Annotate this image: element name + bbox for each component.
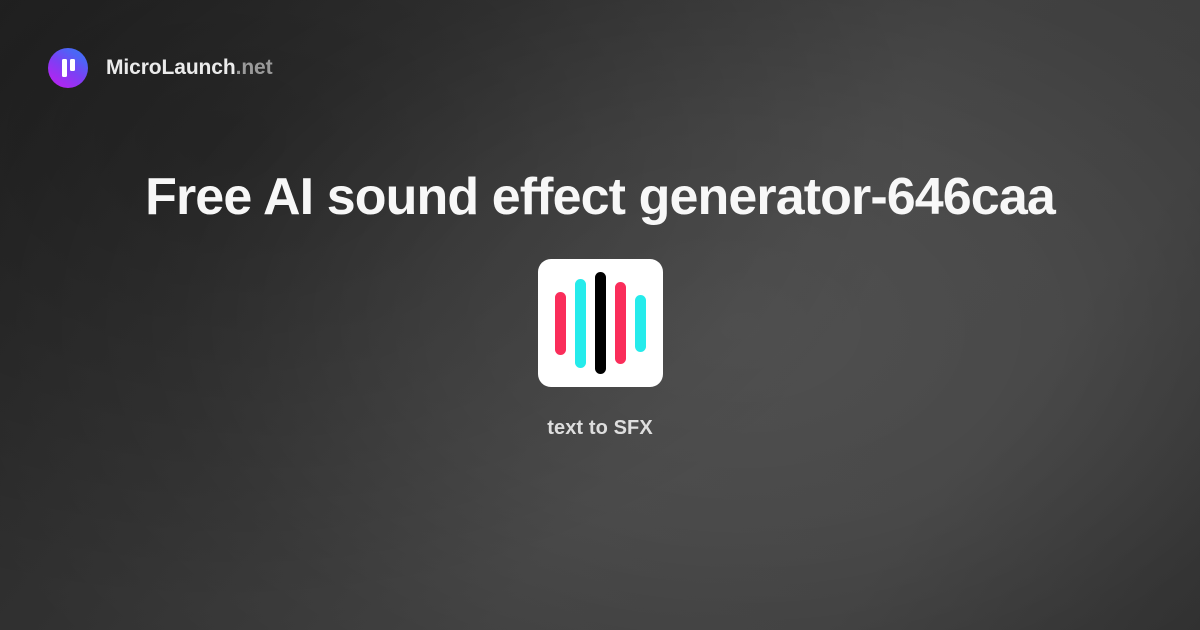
logo-bar-right [70, 59, 75, 71]
product-tagline: text to SFX [547, 417, 653, 440]
hero-content: Free AI sound effect generator-646caa te… [0, 168, 1200, 440]
page-title: Free AI sound effect generator-646caa [105, 168, 1095, 227]
brand-lockup[interactable]: MicroLaunch.net [48, 48, 273, 88]
brand-name-main: MicroLaunch [106, 56, 236, 79]
brand-name-tld: .net [236, 56, 273, 79]
waveform-bar-3 [595, 272, 606, 374]
brand-name: MicroLaunch.net [106, 56, 273, 80]
waveform-bar-5 [635, 295, 646, 352]
waveform-bar-1 [555, 292, 566, 355]
logo-bar-left [62, 59, 67, 77]
waveform-bar-2 [575, 279, 586, 368]
product-icon-card [538, 259, 663, 387]
microlaunch-logo-icon [48, 48, 88, 88]
waveform-bar-4 [615, 282, 626, 364]
og-preview-card: MicroLaunch.net Free AI sound effect gen… [0, 0, 1200, 630]
